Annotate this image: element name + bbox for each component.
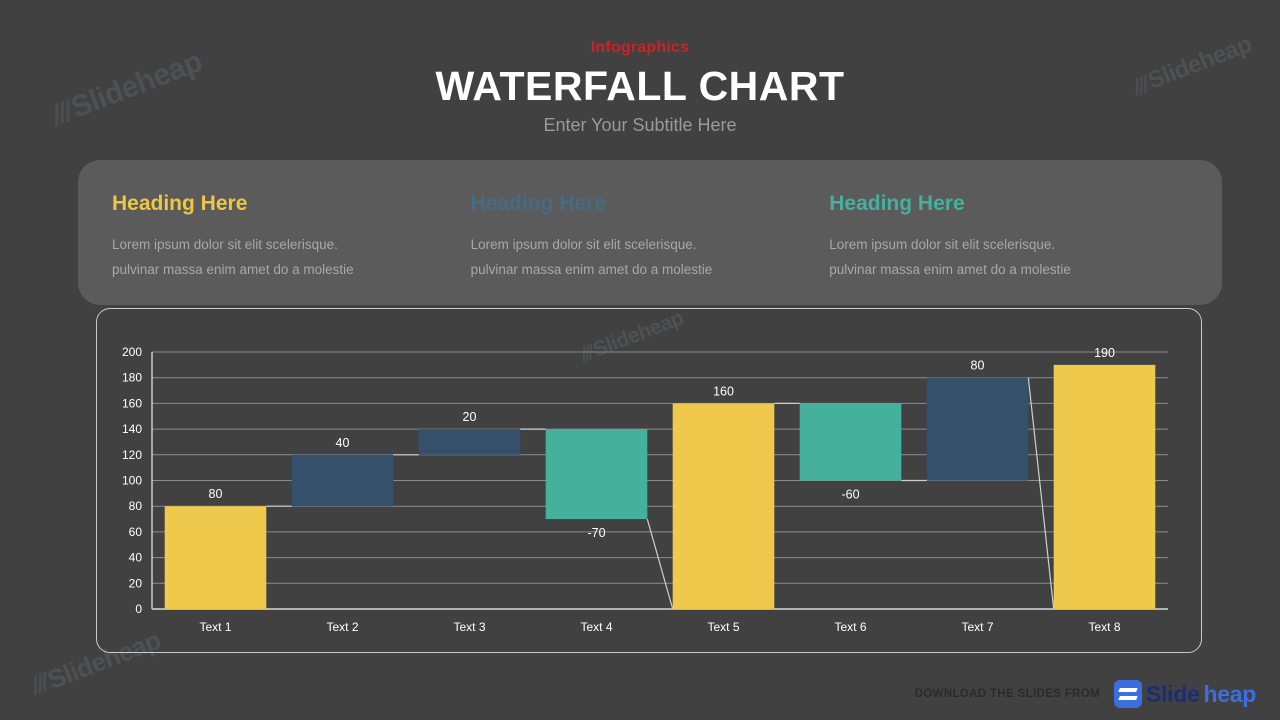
slideheap-mark-icon: [1114, 680, 1142, 708]
download-label: DOWNLOAD THE SLIDES FROM: [915, 688, 1100, 700]
heading-card-2: Heading Here Lorem ipsum dolor sit elit …: [471, 192, 830, 305]
page-title: WATERFALL CHART: [0, 62, 1280, 110]
card-text-line2: pulvinar massa enim amet do a molestie: [829, 257, 1158, 282]
card-text-line2: pulvinar massa enim amet do a molestie: [112, 257, 441, 282]
headings-panel: Heading Here Lorem ipsum dolor sit elit …: [78, 160, 1222, 305]
slideheap-logo[interactable]: Slideheap: [1114, 680, 1256, 708]
logo-text-slide: Slide: [1146, 681, 1199, 708]
footer-branding: DOWNLOAD THE SLIDES FROM Slideheap: [915, 680, 1256, 708]
card-title: Heading Here: [829, 192, 1158, 216]
card-text-line1: Lorem ipsum dolor sit elit scelerisque.: [829, 232, 1158, 257]
card-text-line2: pulvinar massa enim amet do a molestie: [471, 257, 800, 282]
page-subtitle: Enter Your Subtitle Here: [0, 114, 1280, 136]
heading-card-1: Heading Here Lorem ipsum dolor sit elit …: [112, 192, 471, 305]
heading-card-3: Heading Here Lorem ipsum dolor sit elit …: [829, 192, 1188, 305]
card-title: Heading Here: [471, 192, 800, 216]
slide-header: Infographics WATERFALL CHART Enter Your …: [0, 38, 1280, 136]
slideheap-logo-icon: ///: [30, 668, 48, 701]
chart-container: [96, 308, 1202, 653]
logo-text-heap: heap: [1204, 681, 1256, 708]
card-text-line1: Lorem ipsum dolor sit elit scelerisque.: [112, 232, 441, 257]
card-title: Heading Here: [112, 192, 441, 216]
eyebrow-label: Infographics: [0, 38, 1280, 58]
card-text-line1: Lorem ipsum dolor sit elit scelerisque.: [471, 232, 800, 257]
